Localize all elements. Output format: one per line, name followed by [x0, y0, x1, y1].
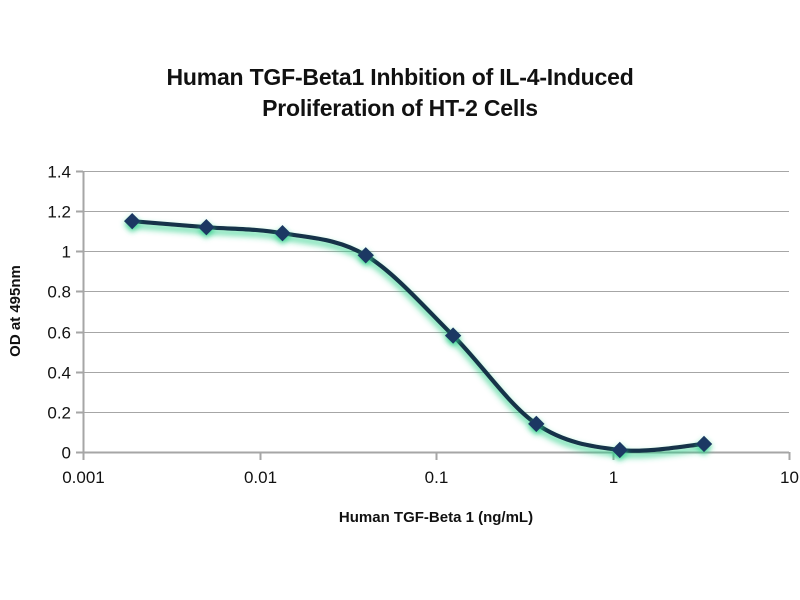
data-point-marker	[697, 436, 712, 451]
data-point-marker	[125, 214, 140, 229]
x-axis-tick-label: 1	[609, 468, 618, 487]
data-series-group	[125, 214, 712, 458]
series-line	[132, 221, 704, 451]
x-axis-tick-label: 0.1	[425, 468, 449, 487]
x-axis-tick-label: 0.01	[244, 468, 277, 487]
chart-figure: Human TGF-Beta1 Inhbition of IL-4-Induce…	[0, 0, 800, 600]
data-point-marker	[612, 442, 627, 457]
x-axis-tick-labels: 0.0010.010.1110	[62, 468, 799, 487]
y-axis-tick-label: 0.6	[47, 324, 71, 343]
x-axis-tick-label: 0.001	[62, 468, 105, 487]
y-axis-tick-label: 1	[62, 243, 71, 262]
chart-plot-area: 00.20.40.60.811.21.4 0.0010.010.1110 Hum…	[0, 0, 800, 600]
x-axis-tick-label: 10	[780, 468, 799, 487]
y-axis-tick-labels: 00.20.40.60.811.21.4	[47, 163, 71, 463]
y-axis-tick-label: 0.4	[47, 364, 71, 383]
gridlines	[83, 172, 789, 453]
data-point-marker	[199, 220, 214, 235]
y-axis-title: OD at 495nm	[7, 265, 24, 357]
y-axis-tick-label: 0	[62, 444, 71, 463]
y-axis-tick-label: 0.2	[47, 404, 71, 423]
y-axis-ticks	[76, 172, 83, 453]
data-point-marker	[275, 226, 290, 241]
y-axis-tick-label: 1.2	[47, 203, 71, 222]
series-markers	[125, 214, 712, 458]
y-axis-tick-label: 1.4	[47, 163, 71, 182]
x-axis-title: Human TGF-Beta 1 (ng/mL)	[339, 509, 533, 526]
y-axis-tick-label: 0.8	[47, 283, 71, 302]
